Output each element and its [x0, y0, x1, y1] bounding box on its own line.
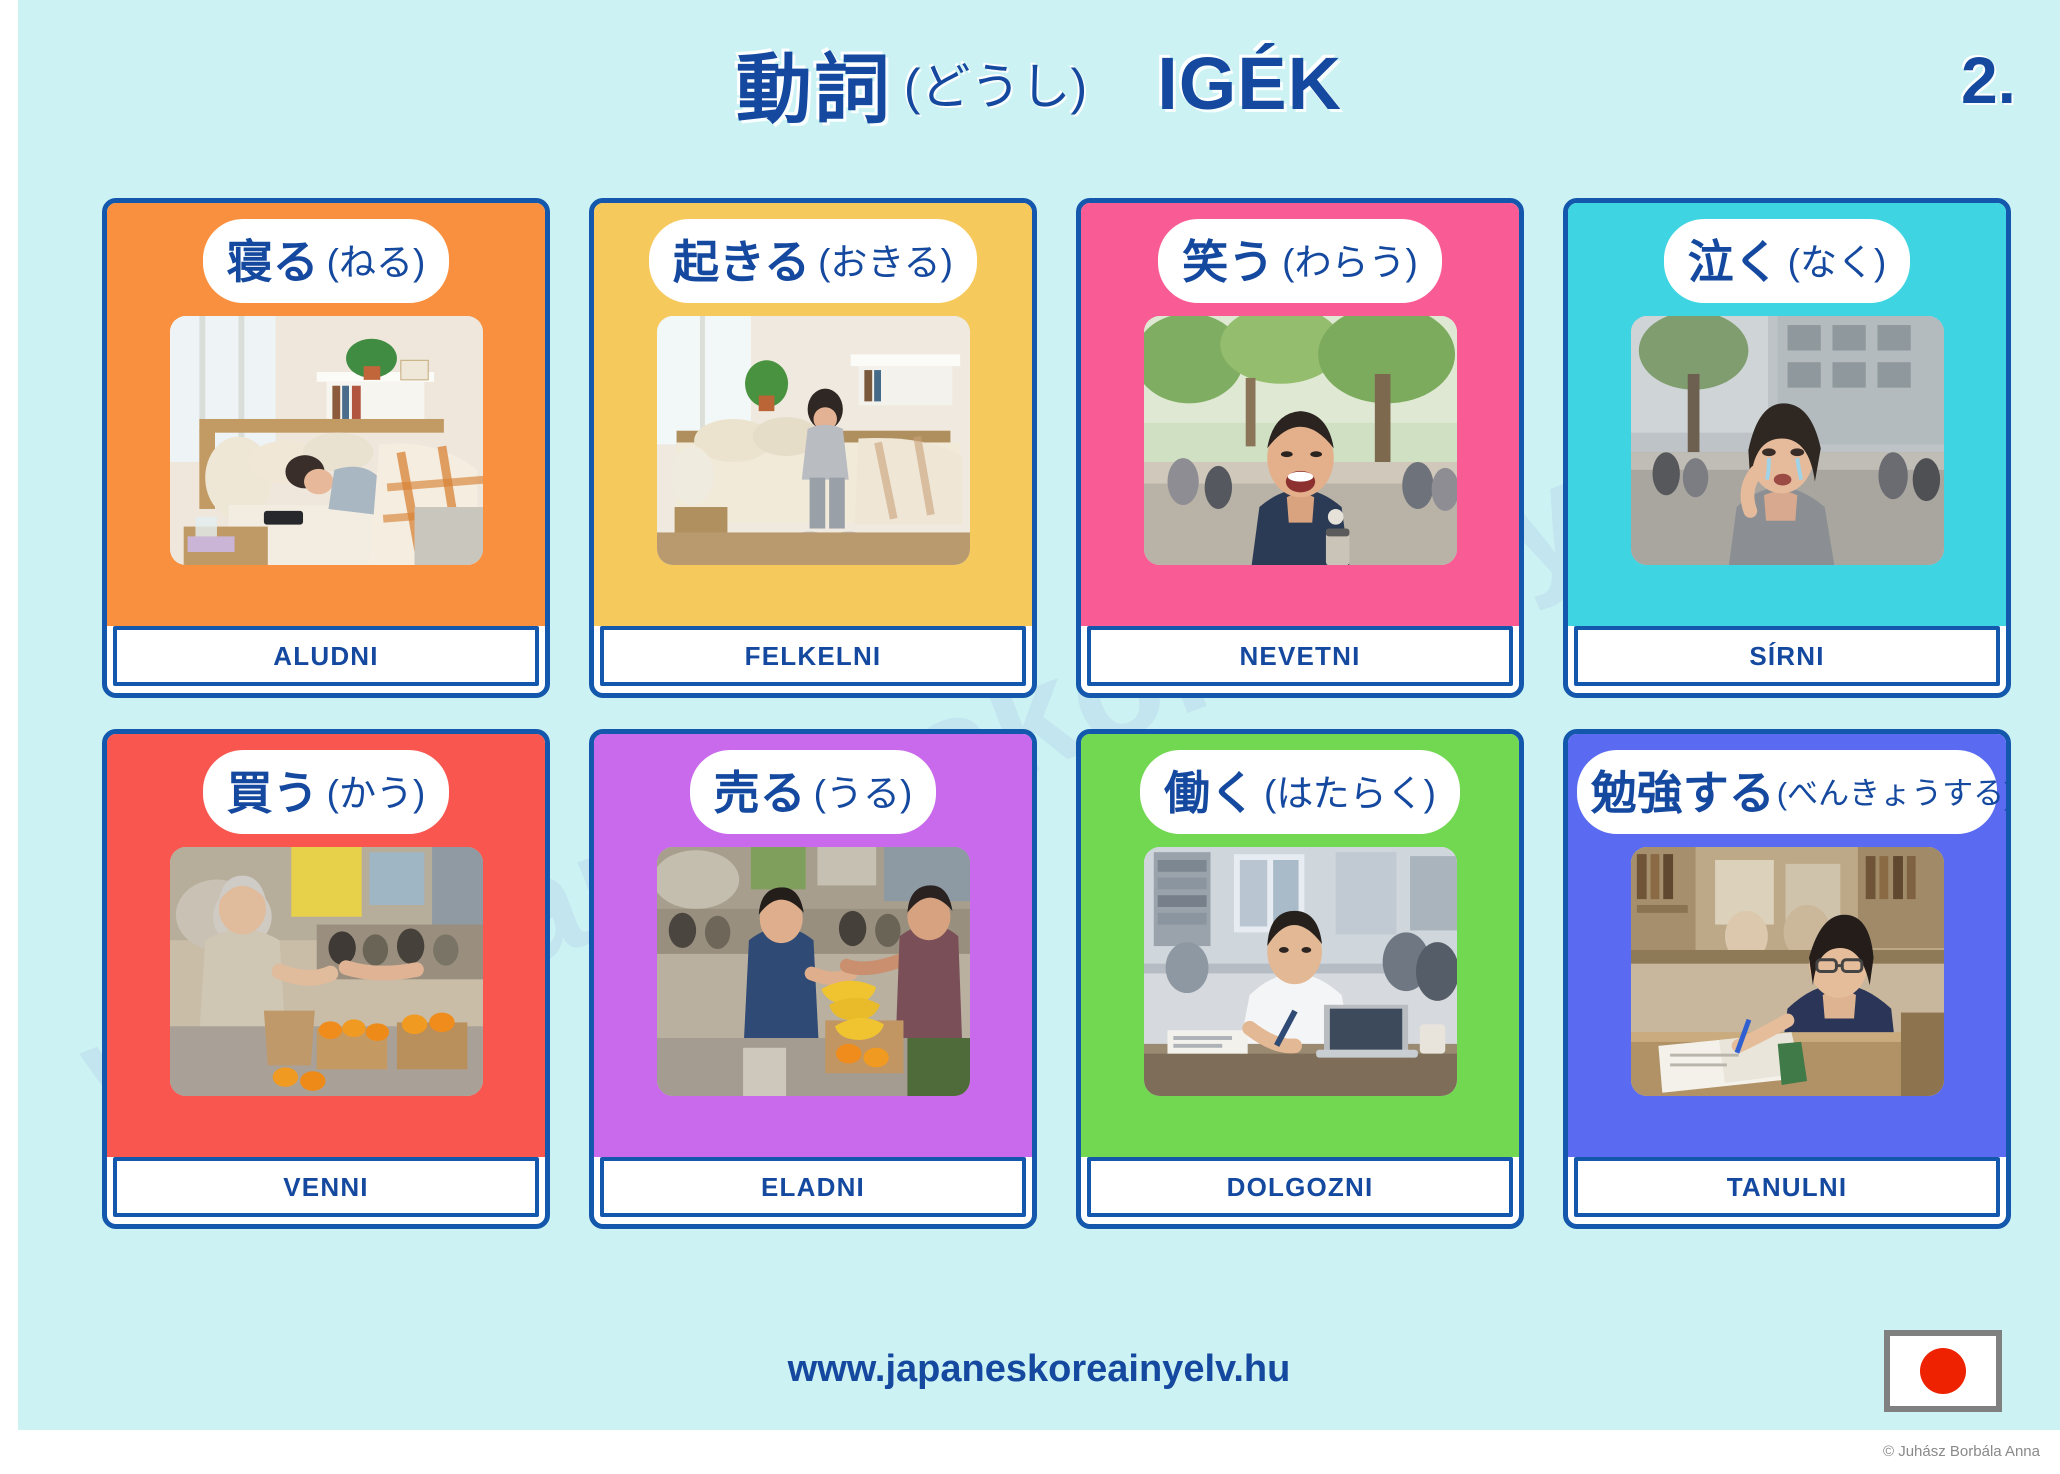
- japanese-word-kanji: 働く: [1164, 767, 1256, 819]
- japanese-word-kanji: 寝る: [227, 236, 319, 288]
- japanese-word-chip: 起きる(おきる): [649, 219, 977, 303]
- japanese-word-furigana: (わらう): [1282, 242, 1418, 283]
- hungarian-translation-label: DOLGOZNI: [1227, 1172, 1374, 1203]
- hungarian-translation-box: FELKELNI: [600, 626, 1026, 686]
- japanese-word-kanji: 笑う: [1182, 236, 1274, 288]
- japanese-word-furigana: (べんきょうする): [1777, 776, 2011, 811]
- vocab-card-venni[interactable]: 買う(かう): [102, 729, 550, 1229]
- hungarian-translation-label: ALUDNI: [273, 641, 378, 672]
- card-body: 寝る(ねる): [107, 203, 545, 626]
- poster-canvas: www.japaneskoreainyelv.hu 動詞(どうし)IGÉK 2.…: [18, 0, 2060, 1430]
- card-body: 泣く(なく): [1568, 203, 2006, 626]
- card-body: 働く(はたらく): [1081, 734, 1519, 1157]
- japanese-word-furigana: (おきる): [818, 242, 953, 283]
- footer-website-url[interactable]: www.japaneskoreainyelv.hu: [18, 1348, 2060, 1391]
- hungarian-translation-label: TANULNI: [1727, 1172, 1848, 1203]
- hungarian-translation-box: VENNI: [113, 1157, 539, 1217]
- japanese-word-kanji: 勉強する: [1591, 767, 1775, 819]
- japanese-word-chip: 売る(うる): [690, 750, 937, 834]
- hungarian-translation-label: VENNI: [283, 1172, 368, 1203]
- vocab-card-aludni[interactable]: 寝る(ねる): [102, 198, 550, 698]
- market-vendor-selling-bananas-photo: [657, 847, 970, 1096]
- japanese-word-furigana: (かう): [327, 773, 426, 814]
- japanese-word-kanji: 起きる: [673, 236, 810, 288]
- man-working-at-office-desk-photo: [1144, 847, 1457, 1096]
- japanese-word-furigana: (うる): [814, 773, 913, 814]
- hungarian-translation-label: FELKELNI: [745, 641, 882, 672]
- elderly-woman-buying-fruit-photo: [170, 847, 483, 1096]
- japan-flag-icon: [1884, 1330, 2002, 1412]
- vocab-card-nevetni[interactable]: 笑う(わらう) NEVETNI: [1076, 198, 1524, 698]
- title-hungarian: IGÉK: [1157, 42, 1342, 125]
- card-body: 勉強する(べんきょうする): [1568, 734, 2006, 1157]
- hungarian-translation-box: TANULNI: [1574, 1157, 2000, 1217]
- student-studying-in-library-photo: [1631, 847, 1944, 1096]
- vocab-card-sírni[interactable]: 泣く(なく): [1563, 198, 2011, 698]
- japanese-word-chip: 勉強する(べんきょうする): [1577, 750, 1997, 834]
- hungarian-translation-label: NEVETNI: [1239, 641, 1360, 672]
- japanese-word-chip: 寝る(ねる): [203, 219, 450, 303]
- page-title: 動詞(どうし)IGÉK: [18, 28, 2060, 138]
- woman-crying-on-street-photo: [1631, 316, 1944, 565]
- vocab-card-felkelni[interactable]: 起きる(おきる) FELKELNI: [589, 198, 1037, 698]
- hungarian-translation-box: NEVETNI: [1087, 626, 1513, 686]
- japanese-word-chip: 泣く(なく): [1664, 219, 1911, 303]
- japanese-word-chip: 買う(かう): [203, 750, 450, 834]
- japanese-word-chip: 笑う(わらう): [1158, 219, 1442, 303]
- japanese-word-kanji: 買う: [227, 767, 319, 819]
- card-body: 買う(かう): [107, 734, 545, 1157]
- hungarian-translation-label: ELADNI: [761, 1172, 865, 1203]
- japanese-word-furigana: (ねる): [327, 242, 426, 283]
- hungarian-translation-label: SÍRNI: [1749, 641, 1824, 672]
- vocab-card-tanulni[interactable]: 勉強する(べんきょうする): [1563, 729, 2011, 1229]
- title-kanji: 動詞: [736, 48, 892, 133]
- copyright-notice: © Juhász Borbála Anna: [1883, 1443, 2040, 1460]
- page-number: 2.: [1961, 42, 2016, 118]
- vocab-card-dolgozni[interactable]: 働く(はたらく): [1076, 729, 1524, 1229]
- vocab-card-eladni[interactable]: 売る(うる): [589, 729, 1037, 1229]
- japanese-word-kanji: 売る: [714, 767, 806, 819]
- man-laughing-on-street-photo: [1144, 316, 1457, 565]
- japanese-word-kanji: 泣く: [1688, 236, 1780, 288]
- hungarian-translation-box: DOLGOZNI: [1087, 1157, 1513, 1217]
- card-body: 笑う(わらう): [1081, 203, 1519, 626]
- hungarian-translation-box: ELADNI: [600, 1157, 1026, 1217]
- woman-waking-up-sitting-on-bed-photo: [657, 316, 970, 565]
- japan-flag-disc: [1920, 1348, 1966, 1394]
- card-body: 起きる(おきる): [594, 203, 1032, 626]
- vocabulary-card-grid: 寝る(ねる): [102, 198, 2012, 1229]
- poster-header: 動詞(どうし)IGÉK 2.: [18, 28, 2060, 138]
- card-body: 売る(うる): [594, 734, 1032, 1157]
- japanese-word-chip: 働く(はたらく): [1140, 750, 1460, 834]
- japanese-word-furigana: (はたらく): [1264, 773, 1436, 814]
- hungarian-translation-box: ALUDNI: [113, 626, 539, 686]
- woman-sleeping-in-bed-photo: [170, 316, 483, 565]
- japanese-word-furigana: (なく): [1788, 242, 1887, 283]
- hungarian-translation-box: SÍRNI: [1574, 626, 2000, 686]
- title-kana: (どうし): [904, 59, 1087, 115]
